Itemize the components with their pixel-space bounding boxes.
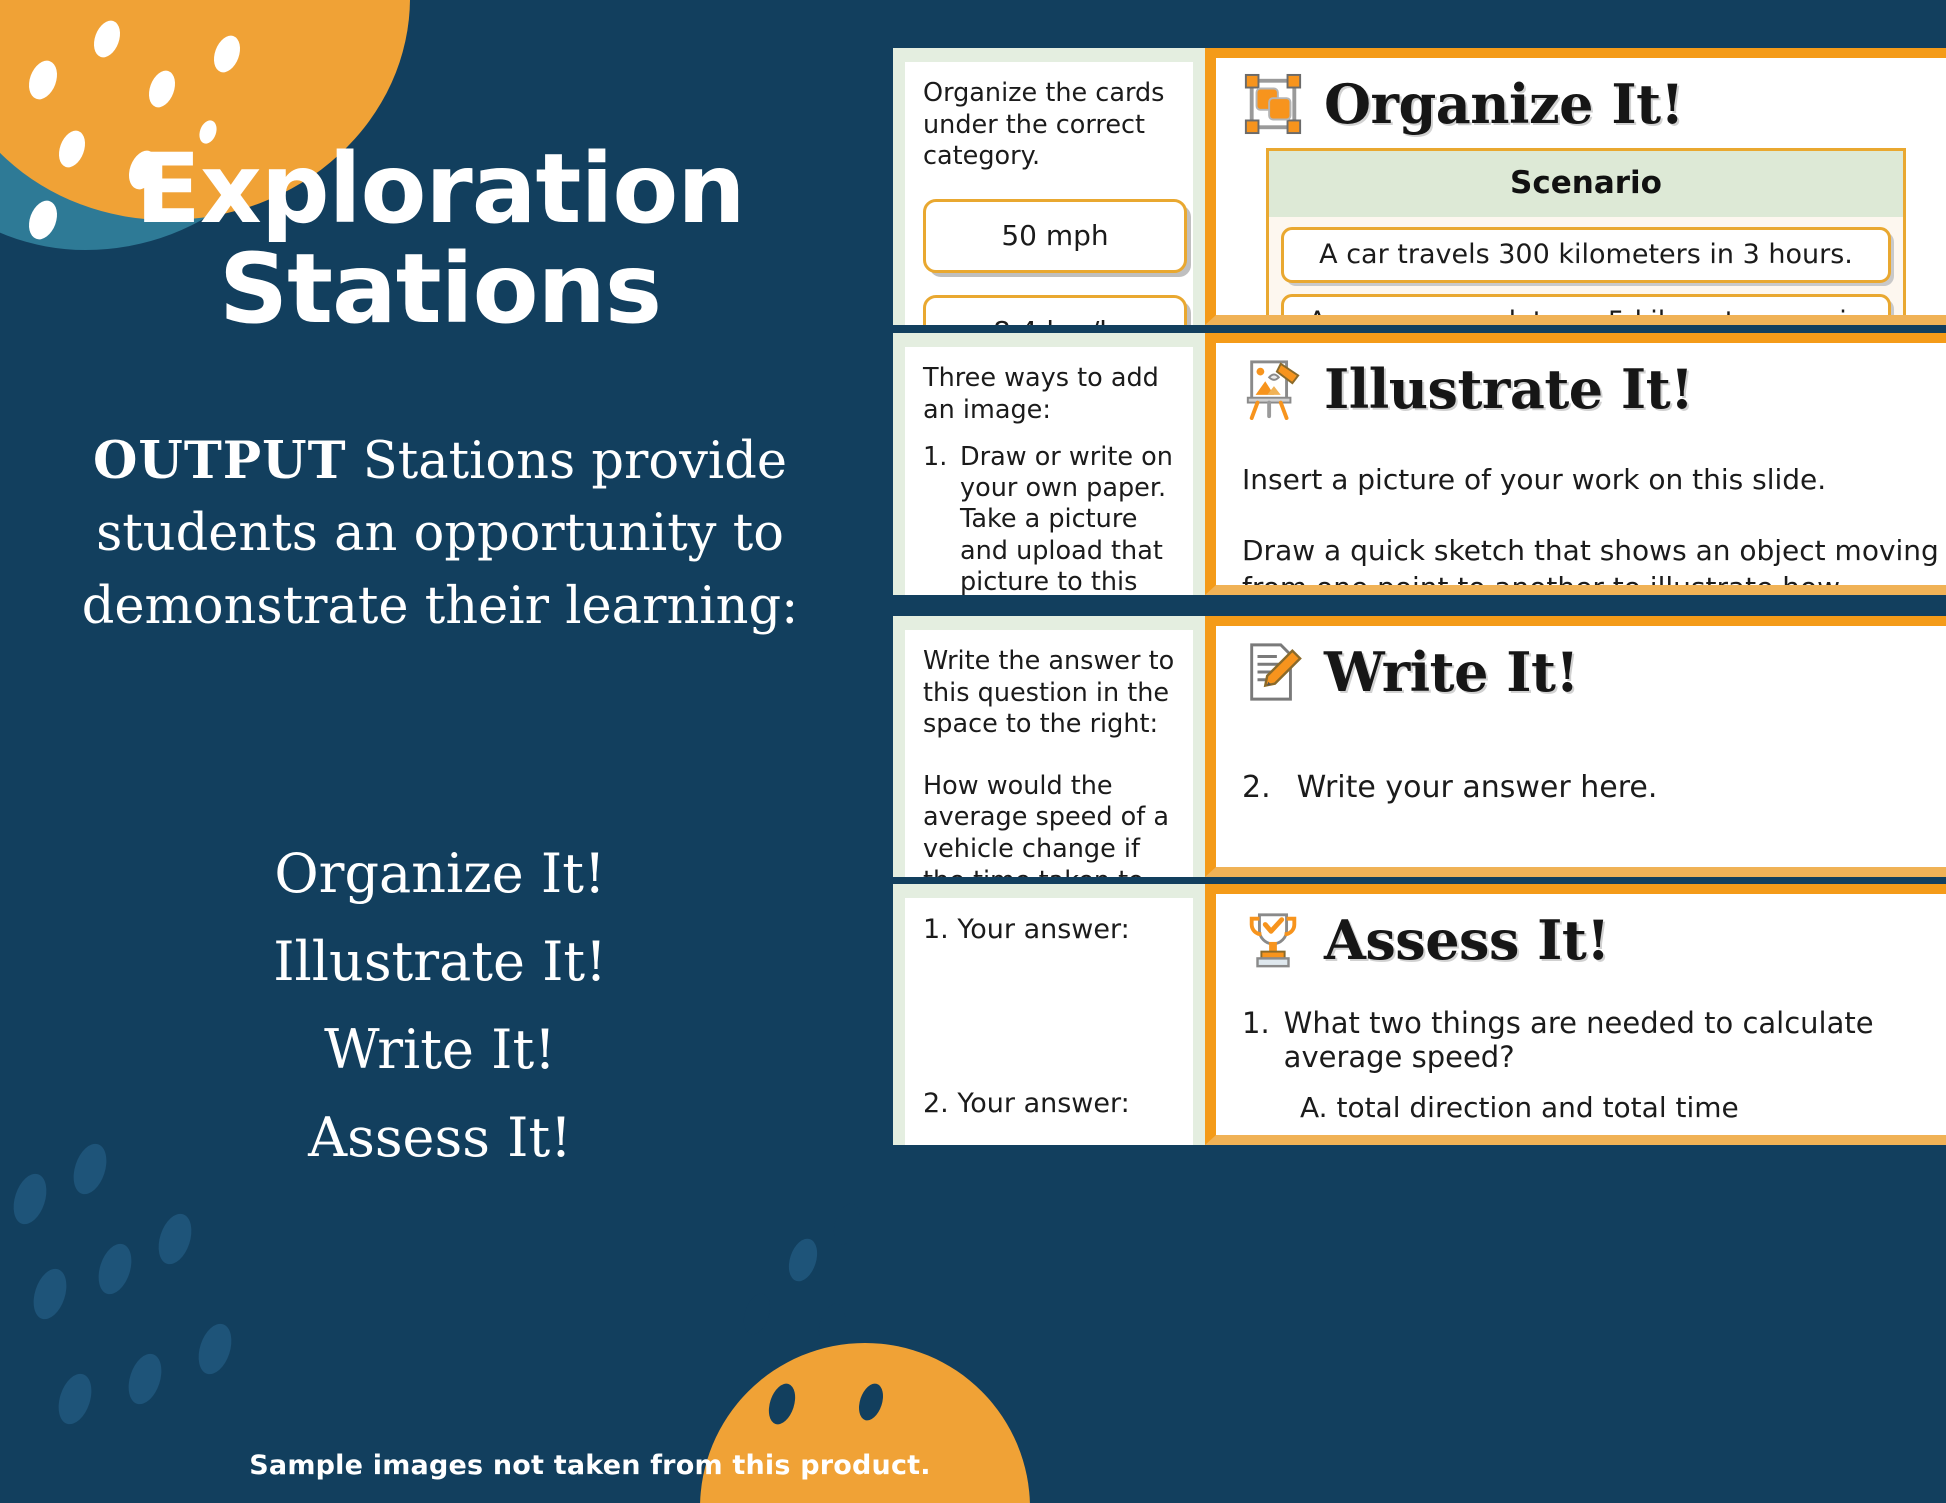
write-instructions-pane: Write the answer to this question in the… [893, 616, 1205, 877]
intro-bold-word: OUTPUT [93, 431, 347, 491]
illustrate-steps-list: 1.Draw or write on your own paper. Take … [923, 442, 1177, 595]
organize-card-1[interactable]: 50 mph [923, 199, 1187, 273]
organize-instructions-text: Organize the cards under the correct cat… [923, 78, 1177, 173]
slide-preview-illustrate[interactable]: Three ways to add an image: 1.Draw or wr… [893, 333, 1946, 595]
organize-scenario-table: Scenario A car travels 300 kilometers in… [1266, 148, 1906, 325]
assess-panel-title: Assess It! [1324, 908, 1610, 972]
scenario-row-1[interactable]: A car travels 300 kilometers in 3 hours. [1281, 227, 1891, 283]
write-answer-number: 2. [1242, 770, 1271, 805]
assess-choice-b[interactable]: B. total mass and total time [1300, 1128, 1946, 1145]
illustrate-slide-body: Illustrate It! Insert a picture of your … [1205, 333, 1946, 595]
station-item-illustrate: Illustrate It! [40, 918, 840, 1006]
write-answer-prompt: Write your answer here. [1297, 770, 1658, 805]
write-panel-title: Write It! [1324, 640, 1579, 704]
title-line-2: Stations [0, 240, 880, 340]
easel-paintbrush-icon [1242, 358, 1304, 420]
page-title: Exploration Stations [0, 140, 880, 340]
document-pencil-icon [1242, 641, 1304, 703]
write-instructions-text: Write the answer to this question in the… [923, 646, 1177, 741]
organize-panel-title: Organize It! [1324, 72, 1684, 136]
illustrate-instructions-pane: Three ways to add an image: 1.Draw or wr… [893, 333, 1205, 595]
assess-answer-slot-1[interactable]: 1. Your answer: [923, 914, 1177, 945]
scenario-row-2[interactable]: A runner completes a 5-kilometer race in… [1281, 294, 1891, 325]
write-slide-body: Write It! 2. Write your answer here. [1205, 616, 1946, 877]
trophy-check-icon [1242, 909, 1304, 971]
illustrate-step-1: Draw or write on your own paper. Take a … [960, 442, 1177, 595]
illustrate-instructions-heading: Three ways to add an image: [923, 363, 1177, 426]
illustrate-panel-title: Illustrate It! [1324, 357, 1693, 421]
station-item-write: Write It! [40, 1006, 840, 1094]
assess-choice-list: A. total direction and total time B. tot… [1300, 1088, 1946, 1145]
organize-slide-body: Organize It! Scenario A car travels 300 … [1205, 48, 1946, 325]
scenario-table-header: Scenario [1269, 151, 1903, 217]
assess-choice-a[interactable]: A. total direction and total time [1300, 1088, 1946, 1128]
write-question-text: How would the average speed of a vehicle… [923, 771, 1177, 877]
assess-answers-pane: 1. Your answer: 2. Your answer: [893, 884, 1205, 1145]
organize-shapes-icon [1242, 73, 1304, 135]
station-item-assess: Assess It! [40, 1094, 840, 1182]
step-number-1: 1. [923, 442, 951, 595]
illustrate-paragraph-1: Insert a picture of your work on this sl… [1242, 461, 1946, 498]
illustrate-paragraph-2: Draw a quick sketch that shows an object… [1242, 532, 1946, 595]
assess-slide-body: Assess It! 1. What two things are needed… [1205, 884, 1946, 1145]
slide-preview-write[interactable]: Write the answer to this question in the… [893, 616, 1946, 877]
assess-answer-slot-2[interactable]: 2. Your answer: [923, 1088, 1177, 1119]
left-content-column: Exploration Stations OUTPUT Stations pro… [0, 0, 880, 1503]
title-line-1: Exploration [0, 140, 880, 240]
poster-canvas: Exploration Stations OUTPUT Stations pro… [0, 0, 1946, 1503]
slide-preview-strip: Organize the cards under the correct cat… [893, 0, 1946, 1503]
list-item: 1.Draw or write on your own paper. Take … [923, 442, 1177, 595]
organize-instructions-pane: Organize the cards under the correct cat… [893, 48, 1205, 325]
intro-paragraph: OUTPUT Stations provide students an oppo… [40, 425, 840, 643]
organize-card-2[interactable]: 8.4 km/h [923, 295, 1187, 325]
station-item-organize: Organize It! [40, 830, 840, 918]
station-list: Organize It! Illustrate It! Write It! As… [40, 830, 840, 1182]
slide-preview-organize[interactable]: Organize the cards under the correct cat… [893, 48, 1946, 325]
write-answer-row[interactable]: 2. Write your answer here. [1242, 770, 1946, 805]
assess-question-row: 1. What two things are needed to calcula… [1242, 1006, 1946, 1074]
assess-question-number: 1. [1242, 1006, 1270, 1074]
assess-question-text: What two things are needed to calculate … [1284, 1006, 1946, 1074]
slide-preview-assess[interactable]: 1. Your answer: 2. Your answer: [893, 884, 1946, 1145]
